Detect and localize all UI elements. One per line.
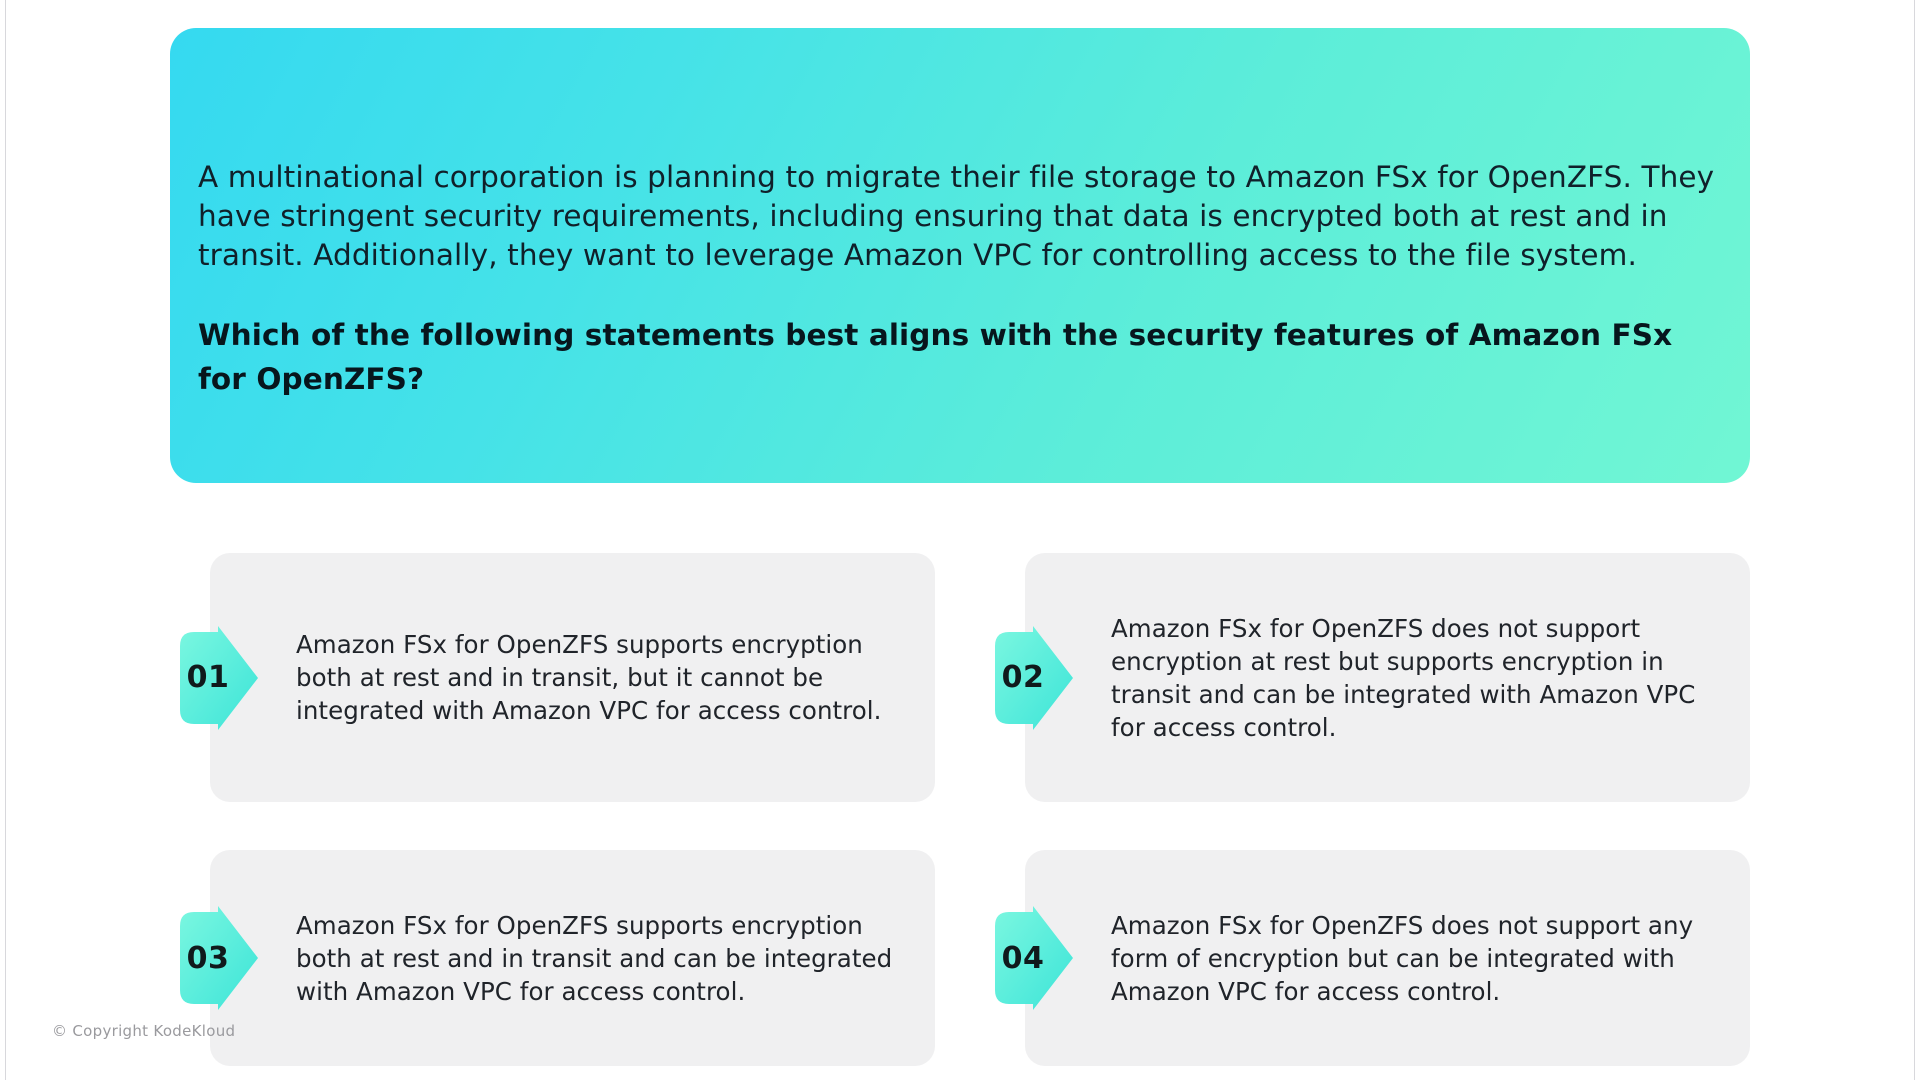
answer-option-04[interactable]: 04 Amazon FSx for OpenZFS does not suppo…: [1025, 850, 1750, 1066]
question-panel: A multinational corporation is planning …: [170, 28, 1750, 483]
option-number-badge-02: 02: [981, 624, 1077, 732]
option-number-01: 01: [187, 660, 242, 695]
answer-option-02[interactable]: 02 Amazon FSx for OpenZFS does not suppo…: [1025, 553, 1750, 802]
answer-option-03[interactable]: 03 Amazon FSx for OpenZFS supports encry…: [210, 850, 935, 1066]
option-number-badge-01: 01: [166, 624, 262, 732]
option-text-03: Amazon FSx for OpenZFS supports encrypti…: [296, 909, 901, 1008]
answer-options-grid: 01 Amazon FSx for OpenZFS supports encry…: [210, 553, 1750, 1066]
option-text-02: Amazon FSx for OpenZFS does not support …: [1111, 612, 1716, 744]
footer-copyright: © Copyright KodeKloud: [52, 1022, 235, 1040]
option-number-04: 04: [1002, 941, 1057, 976]
option-text-01: Amazon FSx for OpenZFS supports encrypti…: [296, 628, 901, 727]
slide: A multinational corporation is planning …: [0, 0, 1920, 1080]
option-number-badge-03: 03: [166, 904, 262, 1012]
answer-option-01[interactable]: 01 Amazon FSx for OpenZFS supports encry…: [210, 553, 935, 802]
question-prompt-text: Which of the following statements best a…: [198, 313, 1718, 401]
option-number-badge-04: 04: [981, 904, 1077, 1012]
question-scenario-text: A multinational corporation is planning …: [198, 158, 1722, 275]
option-number-02: 02: [1002, 660, 1057, 695]
option-number-03: 03: [187, 941, 242, 976]
option-text-04: Amazon FSx for OpenZFS does not support …: [1111, 909, 1716, 1008]
